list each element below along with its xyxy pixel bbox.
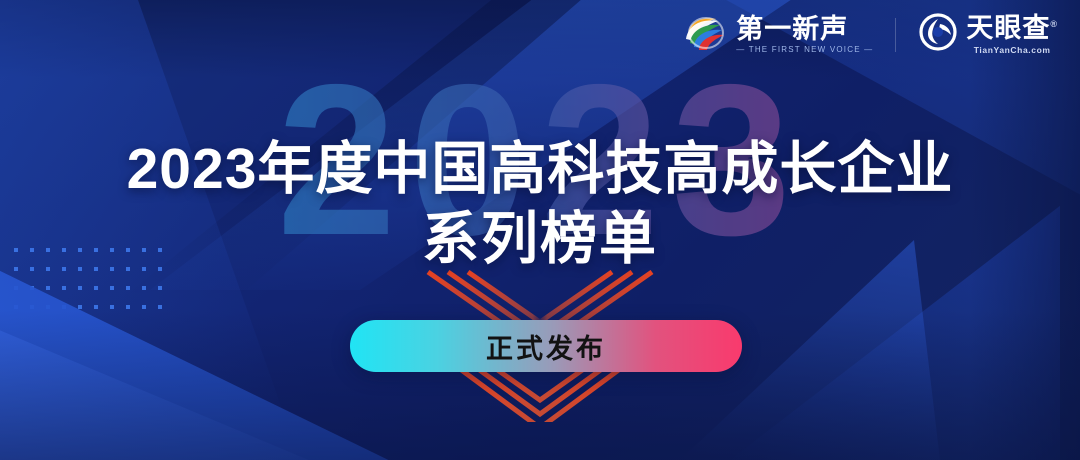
logo-bar: 第一新声 — THE FIRST NEW VOICE — 天眼查® TianYa… — [682, 12, 1058, 57]
logo-first-new-voice-name: 第一新声 — [736, 15, 873, 43]
eye-shutter-logo-icon — [918, 12, 958, 57]
registered-mark-icon: ® — [1050, 19, 1058, 29]
logo-tianyancha-name: 天眼查® — [966, 14, 1058, 42]
release-pill-label: 正式发布 — [486, 327, 606, 366]
logo-divider — [895, 18, 896, 52]
page-title: 2023年度中国高科技高成长企业 系列榜单 — [0, 134, 1080, 274]
chevron-decoration-top — [0, 270, 1080, 326]
logo-tianyancha[interactable]: 天眼查® TianYanCha.com — [918, 12, 1058, 57]
headline-line-1: 2023年度中国高科技高成长企业 — [0, 134, 1080, 204]
swirl-ribbon-logo-icon — [682, 12, 728, 57]
promo-banner: 2023 — [0, 0, 1080, 460]
logo-first-new-voice-text: 第一新声 — THE FIRST NEW VOICE — — [736, 15, 873, 54]
chevron-decoration-bottom — [0, 364, 1080, 422]
logo-first-new-voice-tagline: — THE FIRST NEW VOICE — — [736, 45, 873, 54]
logo-first-new-voice[interactable]: 第一新声 — THE FIRST NEW VOICE — — [682, 12, 873, 57]
logo-tianyancha-text: 天眼查® TianYanCha.com — [966, 14, 1058, 54]
logo-tianyancha-domain: TianYanCha.com — [966, 45, 1058, 55]
release-status-pill[interactable]: 正式发布 — [350, 320, 742, 372]
headline-line-2: 系列榜单 — [0, 204, 1080, 274]
